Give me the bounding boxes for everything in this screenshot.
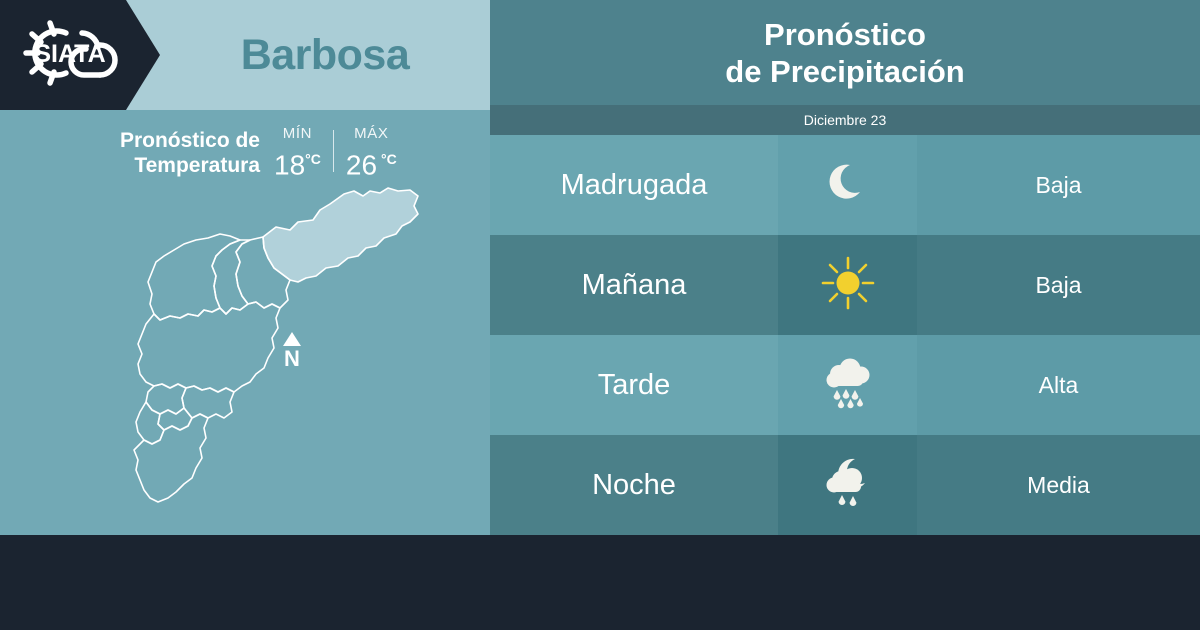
temperature-label-line2: Temperatura — [88, 153, 260, 178]
forecast-title-line2: de Precipitación — [725, 53, 964, 90]
forecast-date: Diciembre 23 — [804, 112, 886, 128]
forecast-probability-label: Media — [1027, 472, 1090, 499]
moon-icon — [822, 157, 874, 214]
forecast-probability-cell: Media — [917, 435, 1200, 535]
forecast-title-line1: Pronóstico — [764, 16, 926, 53]
map-region-barbosa — [263, 188, 418, 282]
left-header: SIATA Barbosa — [0, 0, 490, 110]
right-panel: Pronóstico de Precipitación Diciembre 23… — [490, 0, 1200, 535]
temperature-max-unit: °C — [381, 151, 397, 167]
forecast-period-label: Mañana — [582, 269, 687, 302]
forecast-icon-cell — [778, 335, 917, 435]
sun-cloud-icon: SIATA — [10, 17, 128, 94]
temperature-label-line1: Pronóstico de — [88, 128, 260, 153]
map-region-caldas — [134, 414, 208, 502]
night-rain-icon — [819, 454, 877, 517]
temperature-block: Pronóstico de Temperatura MÍN 18°C MÁX 2… — [88, 124, 418, 186]
city-title: Barbosa — [160, 0, 490, 110]
rain-cloud-icon — [819, 354, 877, 417]
forecast-probability-label: Baja — [1035, 172, 1081, 199]
footer: @siatamedellin www.siata.gov.co Con el a… — [0, 535, 1200, 630]
valle-de-aburra-map[interactable] — [58, 182, 458, 532]
left-panel: SIATA Barbosa Pronóstico de Temperatura … — [0, 0, 490, 535]
table-row[interactable]: Tarde — [490, 335, 1200, 435]
compass: N — [278, 332, 306, 378]
temperature-min: MÍN 18°C — [274, 124, 321, 180]
forecast-date-bar: Diciembre 23 — [490, 105, 1200, 135]
temperature-max-value: 26°C — [346, 144, 397, 180]
temperature-divider — [333, 130, 334, 172]
temperature-min-value: 18°C — [274, 144, 321, 180]
forecast-probability-cell: Baja — [917, 135, 1200, 235]
temperature-label: Pronóstico de Temperatura — [88, 124, 260, 178]
map-region-bello — [148, 234, 240, 320]
temperature-values: MÍN 18°C MÁX 26°C — [260, 124, 397, 180]
temperature-min-caption: MÍN — [274, 124, 321, 144]
siata-logo-text: SIATA — [34, 40, 105, 68]
forecast-icon-cell — [778, 435, 917, 535]
forecast-probability-label: Baja — [1035, 272, 1081, 299]
forecast-period-label: Tarde — [598, 369, 671, 402]
forecast-period-cell: Mañana — [490, 235, 778, 335]
weather-forecast-infographic: SIATA Barbosa Pronóstico de Temperatura … — [0, 0, 1200, 630]
forecast-period-cell: Madrugada — [490, 135, 778, 235]
temperature-max-caption: MÁX — [346, 124, 397, 144]
temperature-max: MÁX 26°C — [346, 124, 397, 180]
forecast-period-cell: Noche — [490, 435, 778, 535]
forecast-period-cell: Tarde — [490, 335, 778, 435]
forecast-probability-cell: Alta — [917, 335, 1200, 435]
temperature-min-unit: °C — [305, 151, 321, 167]
map-region-medellin — [138, 302, 280, 392]
north-arrow-icon — [283, 332, 301, 346]
forecast-probability-label: Alta — [1039, 372, 1079, 399]
table-row[interactable]: Madrugada Baja — [490, 135, 1200, 235]
forecast-probability-cell: Baja — [917, 235, 1200, 335]
map-region-la-estrella — [136, 402, 164, 444]
forecast-rows: Madrugada Baja Mañana — [490, 135, 1200, 535]
forecast-period-label: Noche — [592, 469, 676, 502]
table-row[interactable]: Noche — [490, 435, 1200, 535]
compass-label: N — [278, 347, 306, 371]
forecast-period-label: Madrugada — [561, 169, 708, 202]
siata-logo-badge[interactable]: SIATA — [0, 0, 160, 110]
forecast-icon-cell — [778, 235, 917, 335]
table-row[interactable]: Mañana — [490, 235, 1200, 335]
map-region-envigado — [182, 386, 234, 418]
sun-icon — [819, 254, 877, 317]
forecast-icon-cell — [778, 135, 917, 235]
forecast-header: Pronóstico de Precipitación — [490, 0, 1200, 105]
